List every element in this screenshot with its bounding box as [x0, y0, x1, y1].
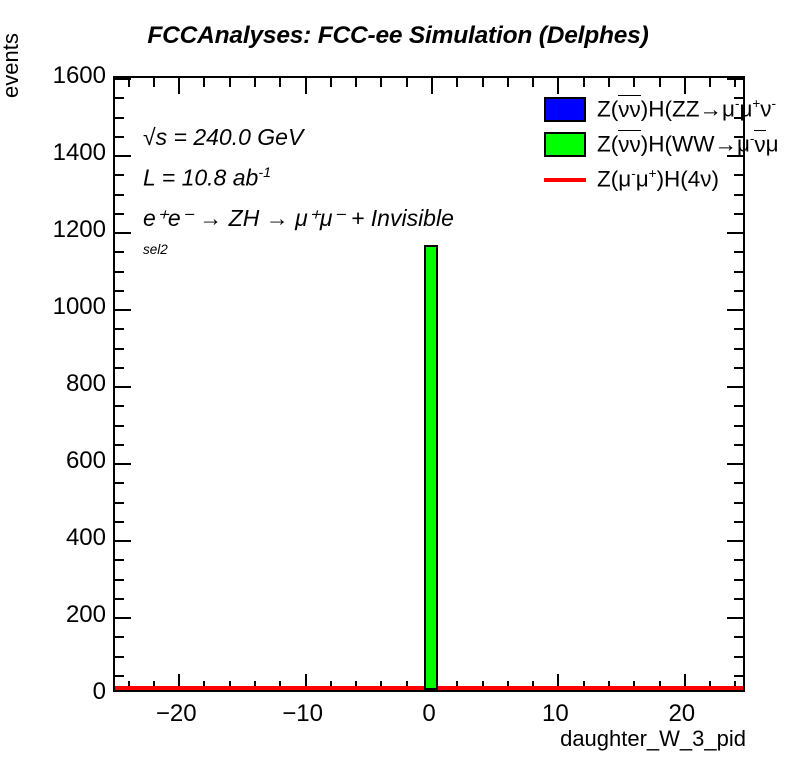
tick-mark	[115, 213, 124, 215]
tick-mark	[482, 78, 484, 87]
annotation-process: e⁺e⁻ → ZH → μ⁺μ⁻ + Invisible	[143, 207, 454, 230]
tick-mark	[115, 675, 124, 677]
tick-mark	[115, 463, 131, 465]
annotation-sqrt-s-value: = 240.0 GeV	[167, 124, 303, 150]
tick-mark	[734, 367, 743, 369]
tick-mark	[734, 559, 743, 561]
tick-mark	[115, 174, 124, 176]
legend-swatch-green	[544, 132, 586, 157]
y-axis-tick-labels: 02004006008001000120014001600	[3, 76, 106, 692]
tick-mark	[734, 251, 743, 253]
legend-line-red	[544, 178, 586, 182]
tick-mark	[115, 444, 124, 446]
tick-mark	[608, 78, 610, 87]
tick-mark	[115, 97, 124, 99]
tick-mark	[727, 309, 743, 311]
chart-canvas: FCCAnalyses: FCC-ee Simulation (Delphes)…	[0, 0, 796, 772]
tick-mark	[115, 617, 131, 619]
tick-mark	[734, 482, 743, 484]
legend-rows: Z(νν)H(ZZ→μ-μ+ν- Z(νν)H(WW→μ-νμ Z(μ-μ+)H…	[544, 92, 796, 197]
sqrt-s-symbol: √s	[143, 126, 167, 149]
y-tick-label: 1000	[6, 293, 106, 321]
tick-mark	[115, 194, 124, 196]
tick-mark	[128, 78, 130, 87]
chart-title: FCCAnalyses: FCC-ee Simulation (Delphes)	[0, 22, 796, 50]
x-tick-label: 0	[422, 700, 435, 728]
x-tick-label: 10	[542, 700, 569, 728]
series-ww-bar	[424, 245, 438, 690]
tick-mark	[178, 78, 180, 94]
tick-mark	[380, 78, 382, 87]
tick-mark	[727, 386, 743, 388]
y-tick-label: 1200	[6, 216, 106, 244]
tick-mark	[727, 540, 743, 542]
tick-mark	[734, 78, 736, 87]
tick-mark	[734, 502, 743, 504]
x-tick-label: −10	[282, 700, 323, 728]
tick-mark	[734, 405, 743, 407]
tick-mark	[115, 636, 124, 638]
tick-mark	[406, 78, 408, 87]
tick-mark	[734, 425, 743, 427]
tick-mark	[734, 290, 743, 292]
y-tick-label: 400	[6, 524, 106, 552]
tick-mark	[115, 386, 131, 388]
tick-mark	[456, 78, 458, 87]
legend-item-4nu[interactable]: Z(μ-μ+)H(4ν)	[544, 162, 796, 197]
tick-mark	[153, 78, 155, 87]
tick-mark	[727, 617, 743, 619]
tick-mark	[727, 463, 743, 465]
tick-mark	[279, 78, 281, 87]
annotation-luminosity: L = 10.8 ab-1	[143, 166, 454, 190]
y-tick-label: 1400	[6, 139, 106, 167]
y-tick-label: 200	[6, 601, 106, 629]
tick-mark	[115, 579, 124, 581]
tick-mark	[115, 232, 131, 234]
annotation-block: √s = 240.0 GeV L = 10.8 ab-1 e⁺e⁻ → ZH →…	[143, 126, 454, 256]
tick-mark	[532, 78, 534, 87]
x-tick-label: −20	[156, 700, 197, 728]
tick-mark	[633, 78, 635, 87]
tick-mark	[115, 328, 124, 330]
tick-mark	[115, 155, 131, 157]
tick-mark	[431, 78, 433, 94]
y-tick-label: 800	[6, 370, 106, 398]
tick-mark	[115, 656, 124, 658]
tick-mark	[115, 348, 124, 350]
x-tick-label: 20	[668, 700, 695, 728]
tick-mark	[115, 482, 124, 484]
tick-mark	[734, 579, 743, 581]
tick-mark	[115, 251, 124, 253]
tick-mark	[115, 521, 124, 523]
tick-mark	[727, 232, 743, 234]
tick-mark	[115, 117, 124, 119]
tick-mark	[659, 78, 661, 87]
tick-mark	[330, 78, 332, 87]
tick-mark	[583, 78, 585, 87]
y-tick-label: 0	[6, 678, 106, 706]
tick-mark	[115, 271, 124, 273]
tick-mark	[115, 502, 124, 504]
annotation-sqrt-s: √s = 240.0 GeV	[143, 126, 454, 149]
y-tick-label: 600	[6, 447, 106, 475]
tick-mark	[709, 78, 711, 87]
tick-mark	[115, 540, 131, 542]
tick-mark	[203, 78, 205, 87]
tick-mark	[115, 367, 124, 369]
tick-mark	[734, 656, 743, 658]
legend-swatch-blue	[544, 97, 586, 122]
tick-mark	[355, 78, 357, 87]
legend: Z(νν)H(ZZ→μ-μ+ν- Z(νν)H(WW→μ-νμ Z(μ-μ+)H…	[544, 92, 796, 204]
tick-mark	[115, 405, 124, 407]
tick-mark	[734, 521, 743, 523]
tick-mark	[305, 78, 307, 94]
legend-label-4nu: Z(μ-μ+)H(4ν)	[597, 166, 719, 193]
legend-item-ww[interactable]: Z(νν)H(WW→μ-νμ	[544, 127, 796, 162]
annotation-selection: sel2	[143, 243, 454, 257]
tick-mark	[734, 675, 743, 677]
tick-mark	[115, 598, 124, 600]
legend-label-zz: Z(νν)H(ZZ→μ-μ+ν-	[597, 96, 776, 123]
tick-mark	[115, 136, 124, 138]
tick-mark	[734, 348, 743, 350]
legend-label-ww: Z(νν)H(WW→μ-νμ	[597, 131, 779, 158]
x-axis-tick-labels: −20−1001020	[113, 700, 745, 730]
tick-mark	[734, 444, 743, 446]
tick-mark	[507, 78, 509, 87]
tick-mark	[734, 328, 743, 330]
tick-mark	[734, 636, 743, 638]
tick-mark	[115, 559, 124, 561]
tick-mark	[115, 290, 124, 292]
y-tick-label: 1600	[6, 62, 106, 90]
tick-mark	[734, 213, 743, 215]
tick-mark	[229, 78, 231, 87]
tick-mark	[254, 78, 256, 87]
tick-mark	[115, 309, 131, 311]
legend-item-zz[interactable]: Z(νν)H(ZZ→μ-μ+ν-	[544, 92, 796, 127]
tick-mark	[734, 271, 743, 273]
tick-mark	[115, 425, 124, 427]
legend-swatch-red	[544, 167, 586, 192]
tick-mark	[734, 598, 743, 600]
luminosity-exponent: -1	[258, 165, 271, 181]
